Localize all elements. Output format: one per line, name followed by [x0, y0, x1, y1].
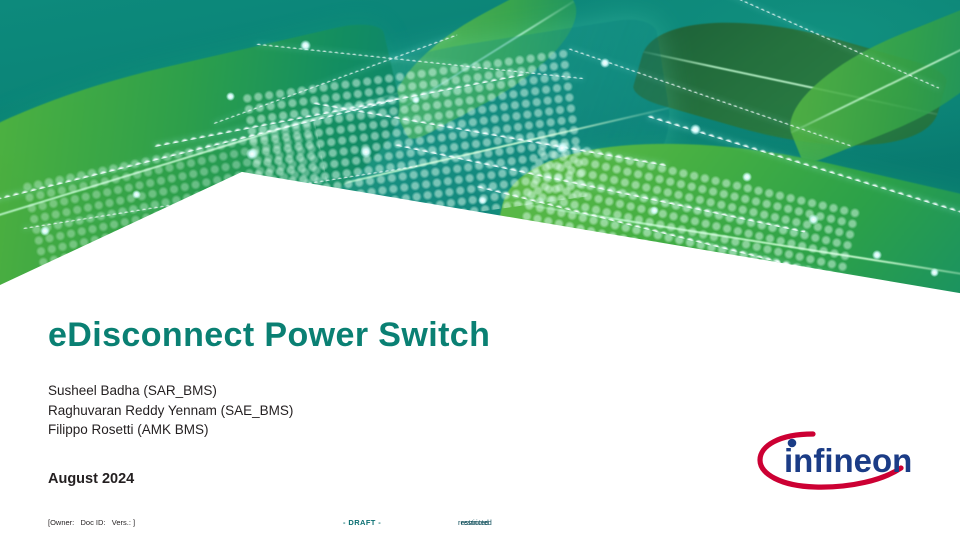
footer-classification: restricted: [458, 518, 489, 527]
author-line: Raghuvaran Reddy Yennam (SAE_BMS): [48, 401, 293, 421]
sparkle: [360, 146, 372, 158]
sparkle: [650, 206, 659, 215]
sparkle: [132, 190, 141, 199]
infineon-logo: infineon: [755, 430, 915, 492]
hero-banner-image: [0, 0, 960, 300]
sparkle: [690, 124, 701, 135]
sparkle: [226, 92, 235, 101]
sparkle: [742, 172, 752, 182]
slide-footer: [Owner: Doc ID: Vers.: ] - DRAFT - restr…: [0, 518, 960, 532]
sparkle: [808, 214, 819, 225]
sparkle: [412, 96, 420, 104]
footer-draft-status: - DRAFT -: [343, 518, 381, 527]
sparkle: [930, 268, 939, 277]
sparkle: [478, 196, 487, 205]
sparkle: [300, 40, 311, 51]
sparkle: [246, 148, 258, 160]
footer-document-meta: [Owner: Doc ID: Vers.: ]: [48, 518, 135, 527]
sparkle: [40, 226, 50, 236]
author-line: Filippo Rosetti (AMK BMS): [48, 420, 293, 440]
sparkle: [556, 142, 568, 154]
sparkle: [600, 58, 610, 68]
author-line: Susheel Badha (SAR_BMS): [48, 381, 293, 401]
logo-wordmark: infineon: [784, 442, 912, 479]
page-title: eDisconnect Power Switch: [48, 316, 490, 355]
presentation-date: August 2024: [48, 471, 134, 487]
presentation-slide: eDisconnect Power Switch Susheel Badha (…: [0, 0, 960, 540]
sparkle: [872, 250, 882, 260]
author-list: Susheel Badha (SAR_BMS) Raghuvaran Reddy…: [48, 381, 293, 440]
logo-i-dot: [788, 439, 797, 448]
